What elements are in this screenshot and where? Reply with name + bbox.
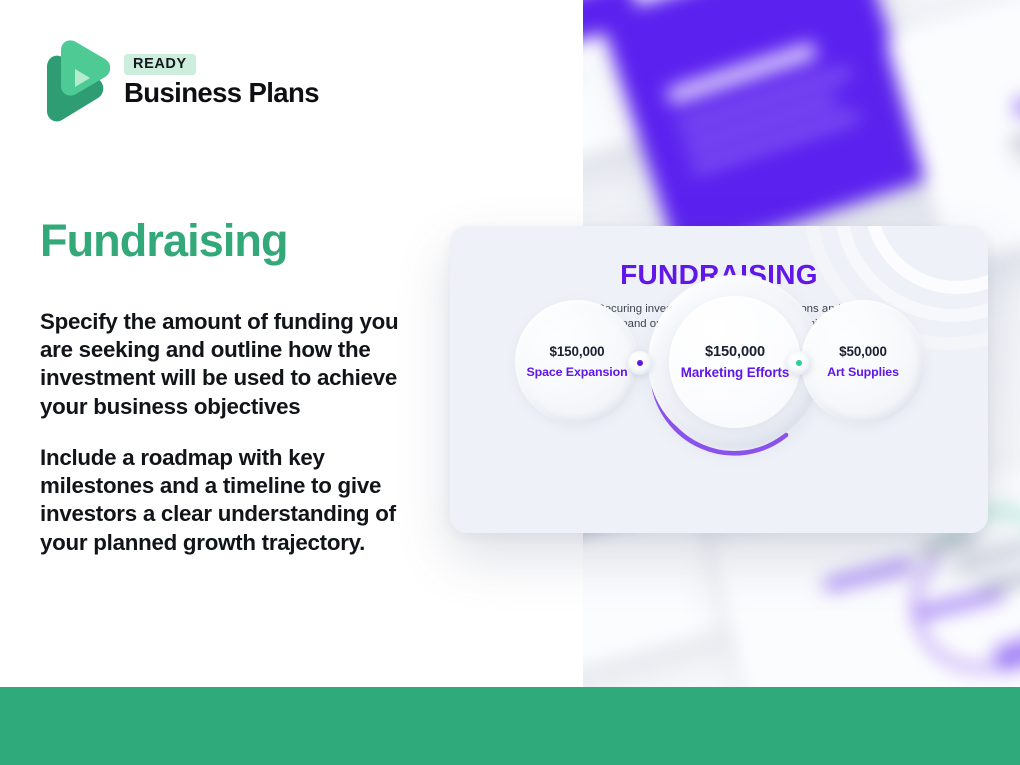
mock-slide-purple bbox=[600, 0, 936, 260]
page-title: Fundraising bbox=[40, 217, 288, 264]
slide-root: READY Business Plans Fundraising Specify… bbox=[0, 0, 1020, 765]
fund-amount: $50,000 bbox=[839, 344, 887, 361]
fund-category: Art Supplies bbox=[827, 364, 899, 380]
fund-amount: $150,000 bbox=[549, 344, 604, 361]
fund-item-art-supplies[interactable]: $50,000 Art Supplies bbox=[801, 300, 925, 424]
fund-item-marketing-efforts[interactable]: $150,000 Marketing Efforts bbox=[669, 296, 801, 428]
fund-category: Space Expansion bbox=[526, 364, 627, 380]
fundraising-slide-card[interactable]: FUNDRAISING Securing investment to scale… bbox=[450, 226, 988, 533]
right-connector-dot bbox=[787, 351, 811, 375]
body-paragraph-2: Include a roadmap with key milestones an… bbox=[40, 444, 435, 557]
double-play-triangle-icon bbox=[41, 40, 110, 122]
body-paragraph-1: Specify the amount of funding you are se… bbox=[40, 308, 435, 421]
footer-band bbox=[0, 687, 1020, 765]
brand-text: READY Business Plans bbox=[124, 54, 319, 109]
brand-name: Business Plans bbox=[124, 78, 319, 108]
ready-badge: READY bbox=[124, 54, 196, 76]
fund-amount: $150,000 bbox=[705, 343, 765, 361]
fund-item-space-expansion[interactable]: $150,000 Space Expansion bbox=[515, 300, 639, 424]
brand-logo: READY Business Plans bbox=[41, 40, 319, 122]
left-connector-dot bbox=[628, 351, 652, 375]
fund-category: Marketing Efforts bbox=[681, 364, 789, 381]
